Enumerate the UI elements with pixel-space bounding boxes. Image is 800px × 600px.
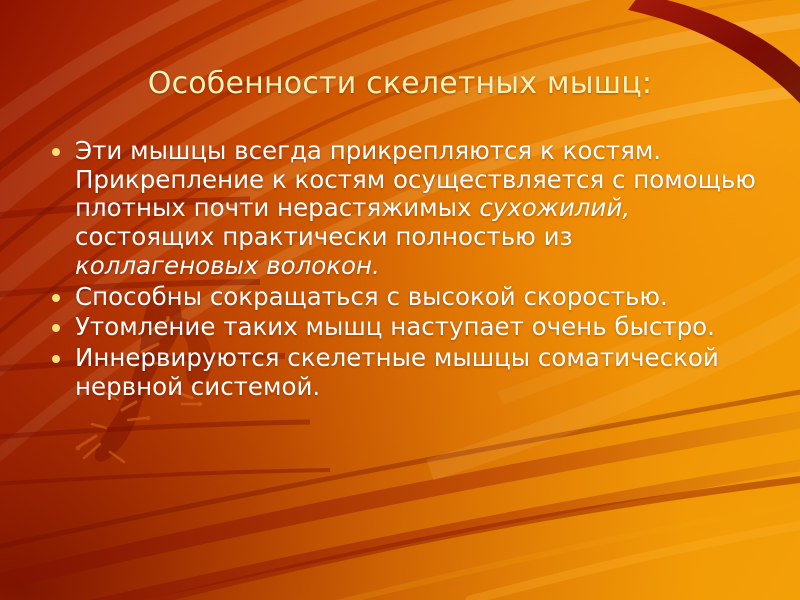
top-right-maroon-arc xyxy=(628,0,800,120)
bullet-attachment-text: Эти мышцы всегда прикрепляются к костям.… xyxy=(75,137,756,281)
segment-emphasis-collagen-fibers: коллагеновых волокон. xyxy=(75,251,380,280)
bullet-dot-icon xyxy=(52,148,60,156)
bullet-innervation: Иннервируются скелетные мышцы соматическ… xyxy=(44,344,756,401)
bullet-dot-icon xyxy=(52,324,60,332)
bullet-fatigue-text: Утомление таких мышц наступает очень быс… xyxy=(75,313,756,342)
bullet-speed-text: Способны сокращаться с высокой скоростью… xyxy=(75,283,756,312)
bullet-speed: Способны сокращаться с высокой скоростью… xyxy=(44,283,756,312)
lower-sweeping-ribbons xyxy=(0,378,800,600)
segment-text: состоящих практически полностью из xyxy=(75,222,573,251)
segment-text: Эти мышцы всегда прикрепляются к костям.… xyxy=(75,136,756,222)
bullet-dot-icon xyxy=(52,355,60,363)
segment-emphasis-tendons: сухожилий, xyxy=(479,193,630,222)
presentation-slide: Особенности скелетных мышц: Эти мышцы вс… xyxy=(0,0,800,600)
bullet-innervation-text: Иннервируются скелетные мышцы соматическ… xyxy=(75,344,756,401)
slide-title: Особенности скелетных мышц: xyxy=(44,66,756,102)
slide-body-bullet-list: Эти мышцы всегда прикрепляются к костям.… xyxy=(44,137,756,404)
bullet-attachment: Эти мышцы всегда прикрепляются к костям.… xyxy=(44,137,756,281)
bullet-fatigue: Утомление таких мышц наступает очень быс… xyxy=(44,313,756,342)
bullet-dot-icon xyxy=(52,294,60,302)
